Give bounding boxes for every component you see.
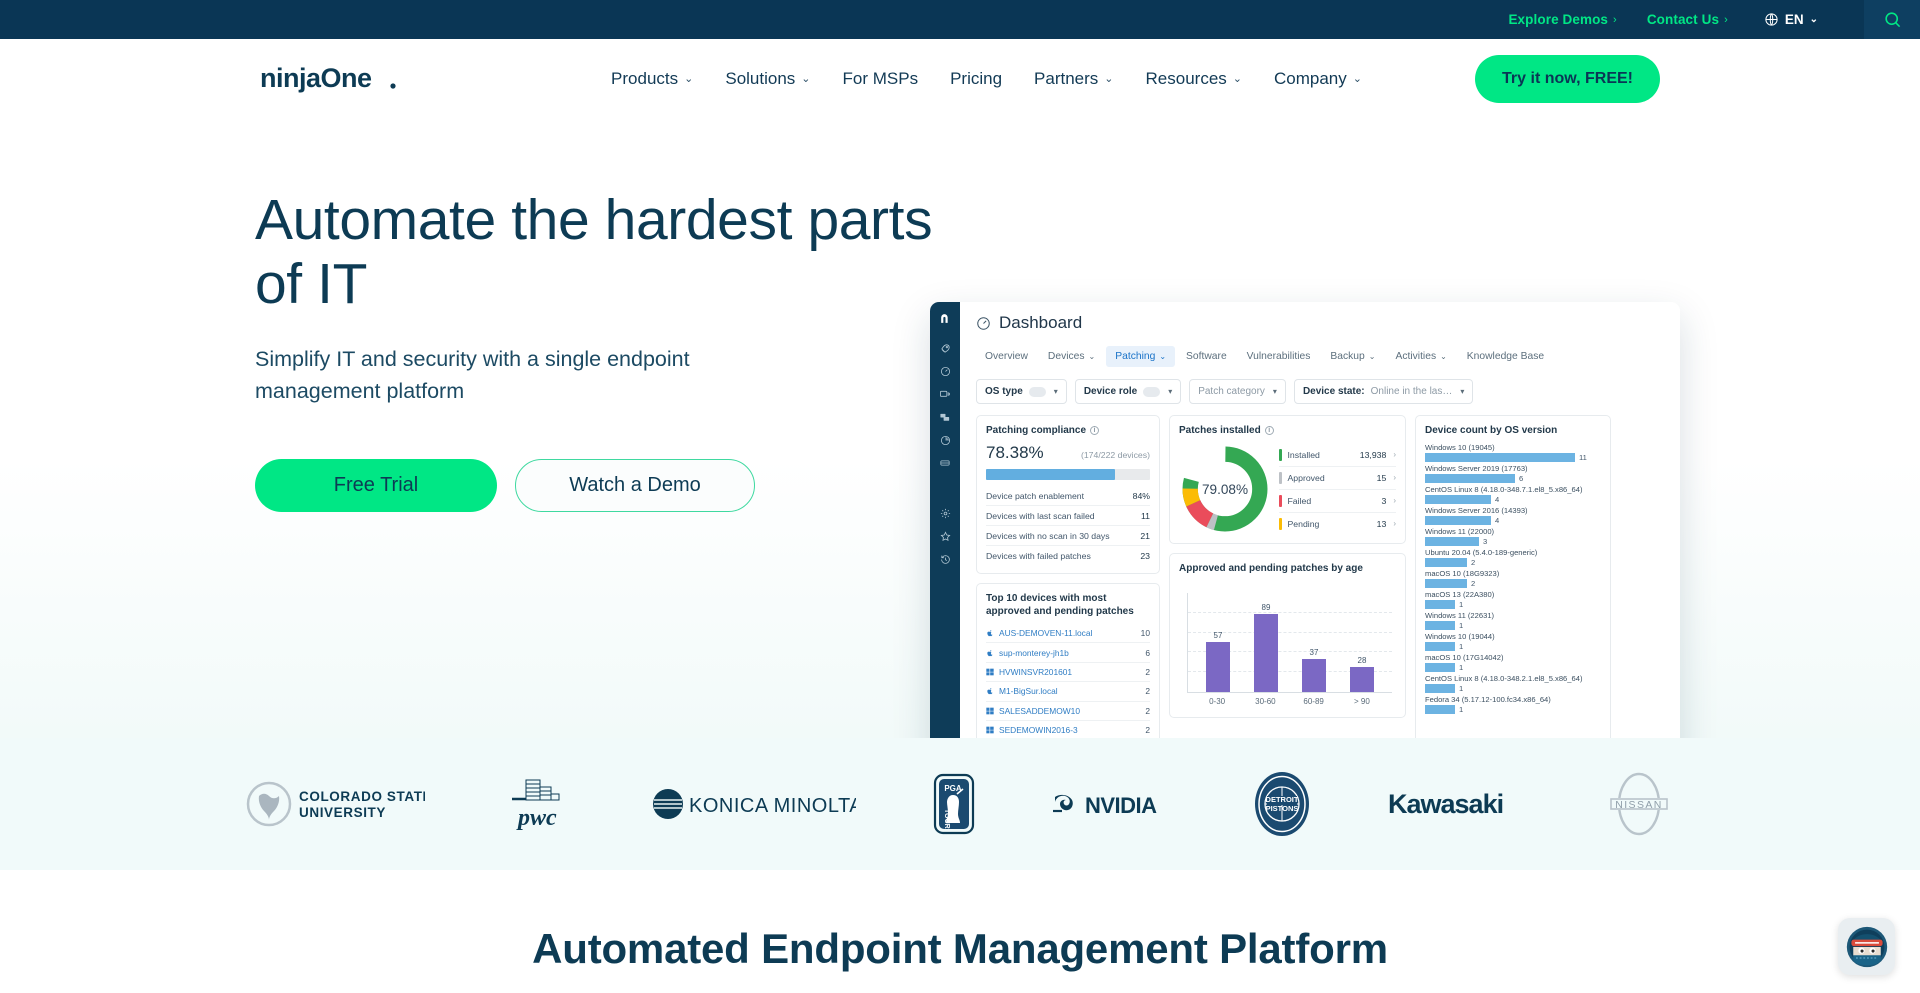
svg-text:KONICA MINOLTA: KONICA MINOLTA bbox=[689, 795, 856, 817]
bar-category-label: 0-30 bbox=[1200, 697, 1234, 706]
svg-text:Kawasaki: Kawasaki bbox=[1388, 789, 1503, 819]
chevron-down-icon: ⌄ bbox=[801, 72, 810, 85]
nav-label: Company bbox=[1274, 69, 1347, 89]
svg-text:NISSAN: NISSAN bbox=[1615, 799, 1663, 811]
card-title: Top 10 devices with most approved and pe… bbox=[986, 592, 1150, 618]
chevron-down-icon: ⌄ bbox=[1159, 352, 1166, 361]
logo-konica-minolta: KONICA MINOLTA bbox=[651, 769, 856, 839]
bar-value-label: 28 bbox=[1358, 656, 1367, 665]
ninjaone-wordmark-icon: ninjaOne bbox=[260, 64, 398, 94]
os-version-bar bbox=[1425, 453, 1575, 462]
os-version-count: 6 bbox=[1519, 474, 1523, 483]
device-patch-count: 10 bbox=[1141, 628, 1150, 638]
chat-widget-button[interactable] bbox=[1838, 918, 1895, 975]
dashboard-sidebar bbox=[930, 302, 960, 738]
hero-subtitle: Simplify IT and security with a single e… bbox=[255, 343, 725, 408]
dashboard-tabs: Overview Devices⌄ Patching⌄ Software Vul… bbox=[976, 346, 1666, 367]
gridline bbox=[1188, 612, 1392, 613]
free-trial-button[interactable]: Free Trial bbox=[255, 459, 497, 512]
ninjaone-logo[interactable]: ninjaOne bbox=[260, 64, 398, 94]
watch-a-demo-button[interactable]: Watch a Demo bbox=[515, 459, 755, 512]
bar-category-label: 30-60 bbox=[1248, 697, 1282, 706]
platform-section: Automated Endpoint Management Platform bbox=[0, 870, 1920, 973]
os-version-count: 1 bbox=[1459, 600, 1463, 609]
rocket-icon[interactable] bbox=[940, 343, 951, 354]
os-version-bar bbox=[1425, 621, 1455, 630]
device-patch-count: 2 bbox=[1145, 686, 1150, 696]
os-version-bar bbox=[1425, 537, 1479, 546]
list-item: Device patch enablement84% bbox=[986, 486, 1150, 506]
customer-logo-strip: COLORADO STATE UNIVERSITY pwc KONICA MIN… bbox=[0, 738, 1920, 870]
os-version-item: Windows 10 (19045)11 bbox=[1425, 443, 1601, 462]
chevron-down-icon: ▾ bbox=[1168, 387, 1172, 396]
kawasaki-logo-icon: Kawasaki bbox=[1388, 788, 1526, 820]
os-version-count: 11 bbox=[1579, 453, 1587, 462]
chevron-down-icon: ⌄ bbox=[1369, 352, 1376, 361]
section-heading: Automated Endpoint Management Platform bbox=[0, 925, 1920, 973]
os-version-count: 4 bbox=[1495, 516, 1499, 525]
os-version-bar bbox=[1425, 495, 1491, 504]
device-count-by-os-card: Device count by OS version Windows 10 (1… bbox=[1415, 415, 1611, 738]
filter-pill bbox=[1029, 387, 1046, 397]
logo-kawasaki: Kawasaki bbox=[1388, 769, 1526, 839]
list-item[interactable]: SALESADDEMOW102 bbox=[986, 702, 1150, 721]
search-button[interactable] bbox=[1864, 0, 1920, 39]
donut-center-label: 79.08% bbox=[1202, 482, 1248, 497]
bar bbox=[1350, 667, 1374, 692]
device-name: AUS-DEMOVEN-11.local bbox=[999, 628, 1141, 638]
filter-device-state[interactable]: Device state: Online in the las… ▾ bbox=[1294, 379, 1473, 404]
os-version-bar bbox=[1425, 474, 1515, 483]
globe-icon bbox=[1764, 12, 1779, 27]
os-version-bar bbox=[1425, 642, 1455, 651]
chevron-down-icon: ⌄ bbox=[684, 72, 693, 85]
pwc-logo-icon: pwc bbox=[502, 775, 574, 833]
bar bbox=[1206, 642, 1230, 692]
list-item: Devices with no scan in 30 days21 bbox=[986, 526, 1150, 546]
language-label: EN bbox=[1785, 12, 1804, 27]
card-title: Device count by OS version bbox=[1425, 424, 1601, 437]
svg-text:UNIVERSITY: UNIVERSITY bbox=[299, 805, 386, 820]
os-version-label: macOS 10 (18G9323) bbox=[1425, 569, 1601, 578]
chevron-down-icon: ⌄ bbox=[1440, 352, 1447, 361]
logo-detroit-pistons: DETROIT PISTONS bbox=[1253, 769, 1311, 839]
os-version-item: Windows 10 (19044)1 bbox=[1425, 632, 1601, 651]
info-icon[interactable]: i bbox=[1265, 426, 1274, 435]
contact-us-label: Contact Us bbox=[1647, 12, 1719, 27]
legend-item-pending[interactable]: Pending13› bbox=[1279, 513, 1396, 535]
dashboard-preview: Dashboard Overview Devices⌄ Patching⌄ So… bbox=[930, 302, 1680, 738]
os-version-count: 2 bbox=[1471, 579, 1475, 588]
tab-activities[interactable]: Activities⌄ bbox=[1386, 346, 1455, 367]
os-version-label: CentOS Linux 8 (4.18.0-348.2.1.el8_5.x86… bbox=[1425, 674, 1601, 683]
os-version-list: Windows 10 (19045)11Windows Server 2019 … bbox=[1425, 443, 1601, 716]
os-version-bar bbox=[1425, 579, 1467, 588]
os-version-count: 1 bbox=[1459, 642, 1463, 651]
os-version-label: Fedora 34 (5.17.12-100.fc34.x86_64) bbox=[1425, 695, 1601, 704]
nav-item-partners[interactable]: Partners ⌄ bbox=[1034, 69, 1113, 89]
filter-os-type[interactable]: OS type ▾ bbox=[976, 379, 1067, 404]
bar-chart: 57893728 0-3030-6060-89> 90 bbox=[1179, 581, 1396, 709]
os-version-count: 4 bbox=[1495, 495, 1499, 504]
nav-label: Pricing bbox=[950, 69, 1002, 89]
gauge-icon[interactable] bbox=[940, 366, 951, 377]
os-version-item: macOS 10 (17G14042)1 bbox=[1425, 653, 1601, 672]
os-version-count: 3 bbox=[1483, 537, 1487, 546]
bar-column[interactable]: 37 bbox=[1297, 648, 1331, 692]
os-version-item: Windows 11 (22000)3 bbox=[1425, 527, 1601, 546]
svg-text:PISTONS: PISTONS bbox=[1266, 804, 1299, 813]
nissan-logo-icon: NISSAN bbox=[1603, 771, 1675, 837]
bar-category-label: 60-89 bbox=[1297, 697, 1331, 706]
chevron-right-icon: › bbox=[1613, 14, 1617, 26]
gauge-icon bbox=[976, 316, 991, 331]
os-version-label: Windows 10 (19044) bbox=[1425, 632, 1601, 641]
legend-item-failed[interactable]: Failed3› bbox=[1279, 490, 1396, 513]
list-item[interactable]: HVWINSVR2016012 bbox=[986, 663, 1150, 682]
try-it-now-button[interactable]: Try it now, FREE! bbox=[1475, 55, 1660, 103]
chevron-right-icon: › bbox=[1724, 14, 1728, 26]
bar-value-label: 89 bbox=[1262, 603, 1271, 612]
os-version-label: Windows Server 2019 (17763) bbox=[1425, 464, 1601, 473]
chevron-down-icon: ▾ bbox=[1460, 387, 1464, 396]
explore-demos-link[interactable]: Explore Demos › bbox=[1508, 12, 1616, 27]
bar-column[interactable]: 28 bbox=[1345, 656, 1379, 692]
os-version-label: macOS 10 (17G14042) bbox=[1425, 653, 1601, 662]
card-title: Patches installed bbox=[1179, 424, 1261, 437]
os-version-count: 2 bbox=[1471, 558, 1475, 567]
list-item[interactable]: M1-BigSur.local2 bbox=[986, 682, 1150, 701]
os-version-count: 1 bbox=[1459, 663, 1463, 672]
bar bbox=[1254, 614, 1278, 692]
nav-item-products[interactable]: Products ⌄ bbox=[611, 69, 693, 89]
dashboard-header: Dashboard bbox=[976, 313, 1666, 333]
top-utility-bar: Explore Demos › Contact Us › EN ⌄ bbox=[0, 0, 1920, 39]
compliance-metric-list: Device patch enablement84% Devices with … bbox=[986, 486, 1150, 565]
patches-installed-card: Patches installed i 79.08% bbox=[1169, 415, 1406, 544]
chevron-down-icon: ⌄ bbox=[1233, 72, 1242, 85]
nav-label: Products bbox=[611, 69, 678, 89]
pie-chart-icon[interactable] bbox=[940, 435, 951, 446]
tab-knowledge-base[interactable]: Knowledge Base bbox=[1458, 346, 1553, 367]
bar-category-label: > 90 bbox=[1345, 697, 1379, 706]
detroit-pistons-logo-icon: DETROIT PISTONS bbox=[1253, 771, 1311, 837]
filter-patch-category[interactable]: Patch category ▾ bbox=[1189, 379, 1286, 404]
bar-value-label: 37 bbox=[1310, 648, 1319, 657]
os-version-count: 1 bbox=[1459, 705, 1463, 714]
donut-legend: Installed13,938› Approved15› Failed3› Pe… bbox=[1279, 444, 1396, 535]
device-patch-count: 6 bbox=[1145, 648, 1150, 658]
info-icon[interactable]: i bbox=[1090, 426, 1099, 435]
device-patch-count: 2 bbox=[1145, 706, 1150, 716]
card-title: Approved and pending patches by age bbox=[1179, 562, 1396, 575]
main-navigation: ninjaOne Products ⌄ Solutions ⌄ For MSPs… bbox=[0, 39, 1920, 118]
device-patch-count: 2 bbox=[1145, 725, 1150, 735]
os-version-label: Windows 10 (19045) bbox=[1425, 443, 1601, 452]
chevron-right-icon: › bbox=[1393, 519, 1396, 528]
top-devices-card: Top 10 devices with most approved and pe… bbox=[976, 583, 1160, 738]
device-name: SALESADDEMOW10 bbox=[999, 706, 1145, 716]
chevron-right-icon: › bbox=[1393, 450, 1396, 459]
os-version-count: 1 bbox=[1459, 684, 1463, 693]
svg-text:ninjaOne: ninjaOne bbox=[260, 64, 372, 93]
ticket-icon[interactable] bbox=[939, 458, 951, 468]
os-version-bar bbox=[1425, 705, 1455, 714]
logo-pga-tour: PGA TOUR bbox=[933, 769, 975, 839]
chevron-down-icon: ⌄ bbox=[1353, 72, 1362, 85]
konica-minolta-logo-icon: KONICA MINOLTA bbox=[651, 786, 856, 822]
tab-software[interactable]: Software bbox=[1177, 346, 1236, 367]
logo-nissan: NISSAN bbox=[1603, 769, 1675, 839]
os-version-item: CentOS Linux 8 (4.18.0-348.2.1.el8_5.x86… bbox=[1425, 674, 1601, 693]
bar-value-label: 57 bbox=[1214, 631, 1223, 640]
chevron-right-icon: › bbox=[1393, 473, 1396, 482]
os-version-item: Fedora 34 (5.17.12-100.fc34.x86_64)1 bbox=[1425, 695, 1601, 714]
patches-by-age-card: Approved and pending patches by age 5789… bbox=[1169, 553, 1406, 718]
top-devices-list: AUS-DEMOVEN-11.local10sup-monterey-jh1b6… bbox=[986, 624, 1150, 738]
os-version-bar bbox=[1425, 600, 1455, 609]
nav-links: Products ⌄ Solutions ⌄ For MSPs Pricing … bbox=[611, 69, 1362, 89]
os-version-bar bbox=[1425, 684, 1455, 693]
page-title: Automate the hardest parts of IT bbox=[255, 188, 950, 317]
svg-text:COLORADO STATE: COLORADO STATE bbox=[299, 789, 425, 804]
nav-item-pricing[interactable]: Pricing bbox=[950, 69, 1002, 89]
dashboard-title: Dashboard bbox=[999, 313, 1082, 333]
logo-nvidia: NVIDIA bbox=[1051, 769, 1176, 839]
star-icon[interactable] bbox=[940, 531, 951, 542]
hero-section: Automate the hardest parts of IT Simplif… bbox=[0, 118, 1920, 738]
ninja-mascot-icon bbox=[1845, 925, 1889, 969]
card-title: Patching compliance bbox=[986, 424, 1086, 437]
nav-item-for-msps[interactable]: For MSPs bbox=[843, 69, 919, 89]
device-patch-count: 2 bbox=[1145, 667, 1150, 677]
gear-icon[interactable] bbox=[940, 508, 951, 519]
chevron-down-icon: ▾ bbox=[1054, 387, 1058, 396]
chevron-down-icon: ⌄ bbox=[1089, 352, 1096, 361]
chevron-down-icon: ▾ bbox=[1273, 387, 1277, 396]
os-version-label: macOS 13 (22A380) bbox=[1425, 590, 1601, 599]
tab-backup[interactable]: Backup⌄ bbox=[1321, 346, 1384, 367]
tab-patching[interactable]: Patching⌄ bbox=[1106, 346, 1175, 367]
nav-item-resources[interactable]: Resources ⌄ bbox=[1146, 69, 1242, 89]
device-name: SEDEMOWIN2016-3 bbox=[999, 725, 1145, 735]
nav-label: Partners bbox=[1034, 69, 1098, 89]
os-version-label: Windows 11 (22631) bbox=[1425, 611, 1601, 620]
device-name: HVWINSVR201601 bbox=[999, 667, 1145, 677]
nav-item-company[interactable]: Company ⌄ bbox=[1274, 69, 1362, 89]
history-icon[interactable] bbox=[940, 554, 951, 565]
os-version-item: Windows 11 (22631)1 bbox=[1425, 611, 1601, 630]
svg-text:TOUR: TOUR bbox=[943, 809, 950, 829]
tab-vulnerabilities[interactable]: Vulnerabilities bbox=[1238, 346, 1320, 367]
compliance-devices: (174/222 devices) bbox=[1081, 450, 1150, 460]
os-version-item: macOS 13 (22A380)1 bbox=[1425, 590, 1601, 609]
logo-colorado-state-university: COLORADO STATE UNIVERSITY bbox=[245, 769, 425, 839]
list-item: Devices with failed patches23 bbox=[986, 546, 1150, 565]
colorado-state-university-logo-icon: COLORADO STATE UNIVERSITY bbox=[245, 779, 425, 829]
os-version-bar bbox=[1425, 558, 1467, 567]
language-selector[interactable]: EN ⌄ bbox=[1764, 12, 1818, 27]
bar-column[interactable]: 57 bbox=[1201, 631, 1235, 692]
dashboard-filters: OS type ▾ Device role ▾ Patch category ▾… bbox=[976, 379, 1666, 404]
legend-item-installed[interactable]: Installed13,938› bbox=[1279, 444, 1396, 467]
logo-pwc: pwc bbox=[502, 769, 574, 839]
svg-text:DETROIT: DETROIT bbox=[1266, 795, 1299, 804]
bar-column[interactable]: 89 bbox=[1249, 603, 1283, 692]
list-item: Devices with last scan failed11 bbox=[986, 506, 1150, 526]
ninja-logo-icon[interactable] bbox=[939, 312, 952, 325]
filter-pill bbox=[1143, 387, 1160, 397]
nav-label: For MSPs bbox=[843, 69, 919, 89]
contact-us-link[interactable]: Contact Us › bbox=[1647, 12, 1728, 27]
nvidia-logo-icon: NVIDIA bbox=[1051, 789, 1176, 819]
monitor-icon[interactable] bbox=[939, 389, 951, 400]
os-version-bar bbox=[1425, 663, 1455, 672]
donut-chart: 79.08% bbox=[1179, 443, 1271, 535]
os-version-item: Windows Server 2016 (14393)4 bbox=[1425, 506, 1601, 525]
os-version-count: 1 bbox=[1459, 621, 1463, 630]
os-version-label: Windows 11 (22000) bbox=[1425, 527, 1601, 536]
list-item[interactable]: AUS-DEMOVEN-11.local10 bbox=[986, 624, 1150, 643]
nav-item-solutions[interactable]: Solutions ⌄ bbox=[725, 69, 810, 89]
os-version-label: Ubuntu 20.04 (5.4.0-189-generic) bbox=[1425, 548, 1601, 557]
nav-label: Resources bbox=[1146, 69, 1227, 89]
legend-item-approved[interactable]: Approved15› bbox=[1279, 467, 1396, 490]
os-version-item: Windows Server 2019 (17763)6 bbox=[1425, 464, 1601, 483]
os-version-bar bbox=[1425, 516, 1491, 525]
tab-overview[interactable]: Overview bbox=[976, 346, 1037, 367]
bar bbox=[1302, 659, 1326, 692]
os-version-label: CentOS Linux 8 (4.18.0-348.7.1.el8_5.x86… bbox=[1425, 485, 1601, 494]
svg-text:NVIDIA: NVIDIA bbox=[1085, 793, 1157, 818]
search-icon bbox=[1883, 10, 1902, 29]
explore-demos-label: Explore Demos bbox=[1508, 12, 1608, 27]
os-version-label: Windows Server 2016 (14393) bbox=[1425, 506, 1601, 515]
devices-icon[interactable] bbox=[939, 412, 951, 423]
patching-compliance-card: Patching compliance i 78.38% (174/222 de… bbox=[976, 415, 1160, 574]
os-version-item: macOS 10 (18G9323)2 bbox=[1425, 569, 1601, 588]
device-name: M1-BigSur.local bbox=[999, 686, 1145, 696]
svg-text:pwc: pwc bbox=[516, 805, 557, 831]
nav-label: Solutions bbox=[725, 69, 795, 89]
list-item[interactable]: SEDEMOWIN2016-32 bbox=[986, 721, 1150, 738]
chevron-right-icon: › bbox=[1393, 496, 1396, 505]
pga-tour-logo-icon: PGA TOUR bbox=[933, 773, 975, 835]
os-version-item: CentOS Linux 8 (4.18.0-348.7.1.el8_5.x86… bbox=[1425, 485, 1601, 504]
os-version-item: Ubuntu 20.04 (5.4.0-189-generic)2 bbox=[1425, 548, 1601, 567]
compliance-progress-bar bbox=[986, 469, 1150, 480]
compliance-percent: 78.38% bbox=[986, 443, 1044, 463]
chevron-down-icon: ⌄ bbox=[1810, 14, 1818, 25]
list-item[interactable]: sup-monterey-jh1b6 bbox=[986, 643, 1150, 662]
tab-devices[interactable]: Devices⌄ bbox=[1039, 346, 1104, 367]
device-name: sup-monterey-jh1b bbox=[999, 648, 1145, 658]
filter-device-role[interactable]: Device role ▾ bbox=[1075, 379, 1181, 404]
chevron-down-icon: ⌄ bbox=[1104, 72, 1113, 85]
